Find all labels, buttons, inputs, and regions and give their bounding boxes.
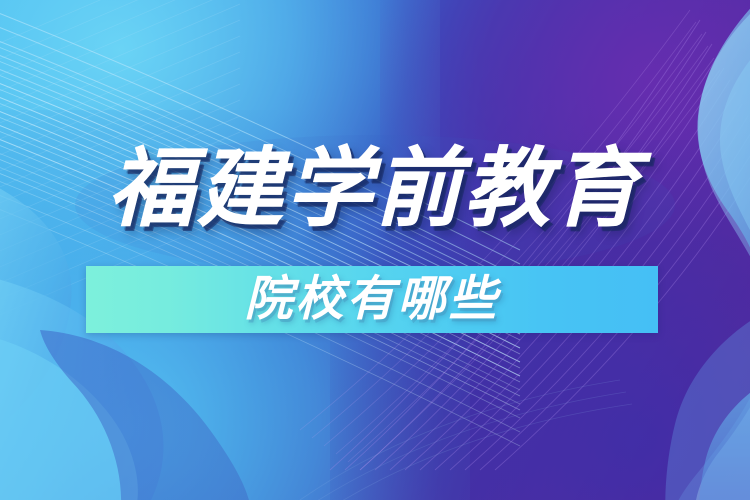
wave-right-blue-low [665,300,750,500]
main-title: 福建学前教育 [108,146,642,234]
decorative-waves-layer [0,0,750,500]
banner-image: 福建学前教育 院校有哪些 [0,0,750,500]
headline-block: 福建学前教育 [0,146,750,234]
subtitle-bar: 院校有哪些 [86,266,658,333]
subtitle-text: 院校有哪些 [244,275,499,323]
